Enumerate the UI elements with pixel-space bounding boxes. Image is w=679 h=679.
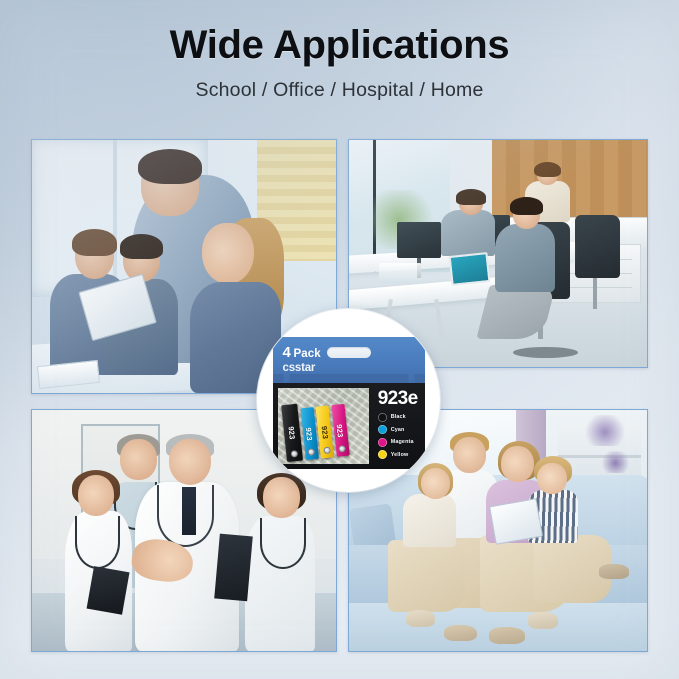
hang-hole-icon xyxy=(327,347,371,358)
ink-cartridge-box: 4 Pack csstar 923 923 xyxy=(273,337,425,469)
legend-row-black: Black xyxy=(378,413,421,422)
brand-name: csstar xyxy=(283,363,321,375)
legend-row-yellow: Yellow xyxy=(378,450,421,459)
model-number: 923e xyxy=(378,389,421,408)
page-subtitle: School / Office / Hospital / Home xyxy=(0,79,679,102)
box-spec-panel: 923e Black Cyan Magenta xyxy=(372,383,425,469)
cartridge-photo-window: 923 923 923 923 xyxy=(278,388,369,464)
chip-icon xyxy=(290,450,298,458)
cartridge-yellow: 923 xyxy=(315,405,333,458)
pack-count: 4 xyxy=(283,345,291,360)
color-dot-magenta xyxy=(378,438,387,447)
header-block: Wide Applications School / Office / Hosp… xyxy=(0,24,679,102)
color-label-yellow: Yellow xyxy=(391,452,409,458)
color-dot-yellow xyxy=(378,450,387,459)
box-body: 923 923 923 923 xyxy=(273,383,425,469)
cartridge-group: 923 923 923 923 xyxy=(281,399,349,462)
color-legend: Black Cyan Magenta Yellow xyxy=(378,413,421,460)
product-badge-circle: 4 Pack csstar 923 923 xyxy=(257,309,440,492)
color-label-magenta: Magenta xyxy=(391,439,414,445)
chip-icon xyxy=(338,445,346,453)
color-label-black: Black xyxy=(391,414,406,420)
infographic-canvas: Wide Applications School / Office / Hosp… xyxy=(0,0,679,679)
tablet-device-icon xyxy=(489,498,543,544)
chip-icon xyxy=(323,447,331,455)
legend-row-cyan: Cyan xyxy=(378,425,421,434)
color-dot-cyan xyxy=(378,425,387,434)
legend-row-magenta: Magenta xyxy=(378,438,421,447)
chip-icon xyxy=(307,448,315,456)
color-dot-black xyxy=(378,413,387,422)
box-branding: 4 Pack csstar xyxy=(283,345,321,375)
page-title: Wide Applications xyxy=(0,24,679,67)
box-header: 4 Pack csstar xyxy=(273,337,425,383)
laptop-device-icon xyxy=(449,252,491,285)
color-label-cyan: Cyan xyxy=(391,427,405,433)
pack-word: Pack xyxy=(293,349,320,361)
